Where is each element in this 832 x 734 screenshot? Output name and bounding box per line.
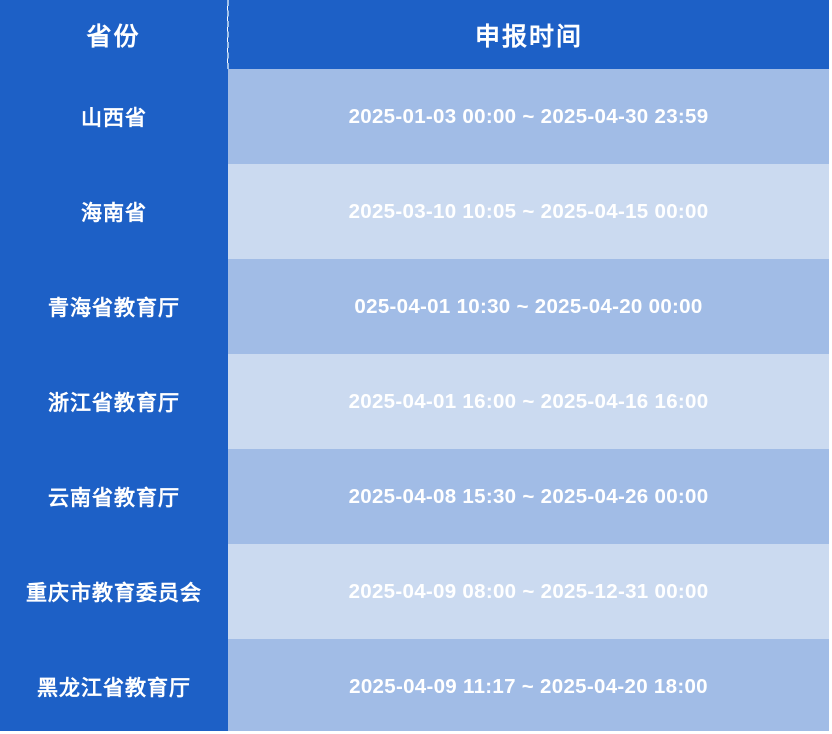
cell-declaration-time: 2025-03-10 10:05 ~ 2025-04-15 00:00	[228, 164, 829, 259]
cell-province: 山西省	[0, 69, 228, 164]
cell-province: 青海省教育厅	[0, 259, 228, 354]
table-row: 黑龙江省教育厅2025-04-09 11:17 ~ 2025-04-20 18:…	[0, 639, 829, 734]
cell-province: 重庆市教育委员会	[0, 544, 228, 639]
cell-declaration-time: 2025-04-09 11:17 ~ 2025-04-20 18:00	[228, 639, 829, 734]
table-body: 山西省2025-01-03 00:00 ~ 2025-04-30 23:59海南…	[0, 69, 829, 734]
table-row: 重庆市教育委员会2025-04-09 08:00 ~ 2025-12-31 00…	[0, 544, 829, 639]
table-header-row: 省份 申报时间	[0, 0, 829, 69]
cell-declaration-time: 2025-01-03 00:00 ~ 2025-04-30 23:59	[228, 69, 829, 164]
cell-province: 海南省	[0, 164, 228, 259]
table-header: 省份 申报时间	[0, 0, 829, 69]
declaration-schedule-table-container: 省份 申报时间 山西省2025-01-03 00:00 ~ 2025-04-30…	[0, 0, 832, 734]
cell-declaration-time: 025-04-01 10:30 ~ 2025-04-20 00:00	[228, 259, 829, 354]
table-row: 云南省教育厅2025-04-08 15:30 ~ 2025-04-26 00:0…	[0, 449, 829, 544]
cell-declaration-time: 2025-04-01 16:00 ~ 2025-04-16 16:00	[228, 354, 829, 449]
cell-province: 云南省教育厅	[0, 449, 228, 544]
column-header-province: 省份	[0, 0, 228, 69]
declaration-schedule-table: 省份 申报时间 山西省2025-01-03 00:00 ~ 2025-04-30…	[0, 0, 829, 734]
table-row: 山西省2025-01-03 00:00 ~ 2025-04-30 23:59	[0, 69, 829, 164]
column-header-declaration-time: 申报时间	[228, 0, 829, 69]
cell-declaration-time: 2025-04-08 15:30 ~ 2025-04-26 00:00	[228, 449, 829, 544]
cell-declaration-time: 2025-04-09 08:00 ~ 2025-12-31 00:00	[228, 544, 829, 639]
table-row: 海南省2025-03-10 10:05 ~ 2025-04-15 00:00	[0, 164, 829, 259]
table-row: 青海省教育厅025-04-01 10:30 ~ 2025-04-20 00:00	[0, 259, 829, 354]
cell-province: 黑龙江省教育厅	[0, 639, 228, 734]
table-row: 浙江省教育厅2025-04-01 16:00 ~ 2025-04-16 16:0…	[0, 354, 829, 449]
cell-province: 浙江省教育厅	[0, 354, 228, 449]
